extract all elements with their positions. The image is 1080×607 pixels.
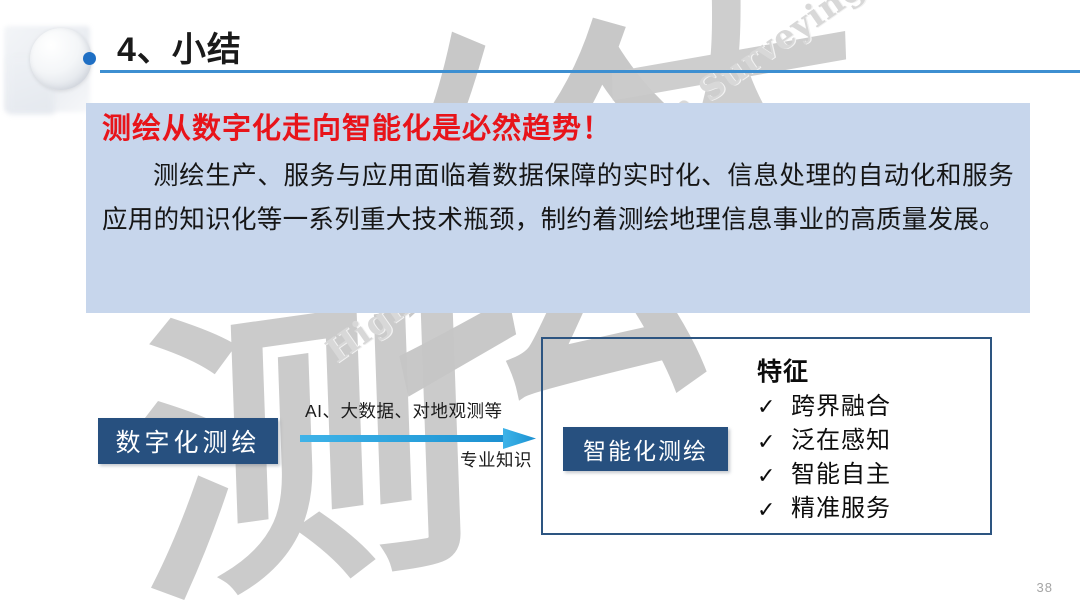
check-icon: ✓ [757,494,791,525]
list-item-label: 智能自主 [791,458,891,492]
title-divider [100,70,1080,73]
list-item: ✓ 精准服务 [757,492,987,526]
feature-list-title: 特征 [757,352,987,388]
list-item-label: 泛在感知 [791,424,891,458]
list-item-label: 跨界融合 [791,390,891,424]
check-icon: ✓ [757,391,791,422]
list-item: ✓ 泛在感知 [757,424,987,458]
arrow-label-bottom: 专业知识 [460,447,532,472]
check-icon: ✓ [757,426,791,457]
callout-panel: 测绘从数字化走向智能化是必然趋势！ 测绘生产、服务与应用面临着数据保障的实时化、… [86,103,1030,313]
list-item-label: 精准服务 [791,492,891,526]
feature-list-group: 特征 ✓ 跨界融合 ✓ 泛在感知 ✓ 智能自主 ✓ 精准服务 [757,352,987,526]
slide-canvas: 测 绘 大 High-level Lectures on Surveying a… [0,0,1080,607]
callout-heading: 测绘从数字化走向智能化是必然趋势！ [102,111,1014,149]
page-title: 4、小结 [117,22,242,71]
list-item: ✓ 跨界融合 [757,390,987,424]
list-item: ✓ 智能自主 [757,458,987,492]
callout-body-text: 测绘生产、服务与应用面临着数据保障的实时化、信息处理的自动化和服务应用的知识化等… [102,155,1014,243]
transition-arrow-group: AI、大数据、对地观测等 专业知识 [300,398,540,484]
arrow-label-top: AI、大数据、对地观测等 [305,398,503,423]
target-stage-box[interactable]: 智能化测绘 [563,427,728,471]
source-stage-box[interactable]: 数字化测绘 [98,418,278,464]
page-number: 38 [1037,580,1053,595]
bullet-dot-icon [83,52,96,65]
check-icon: ✓ [757,460,791,491]
